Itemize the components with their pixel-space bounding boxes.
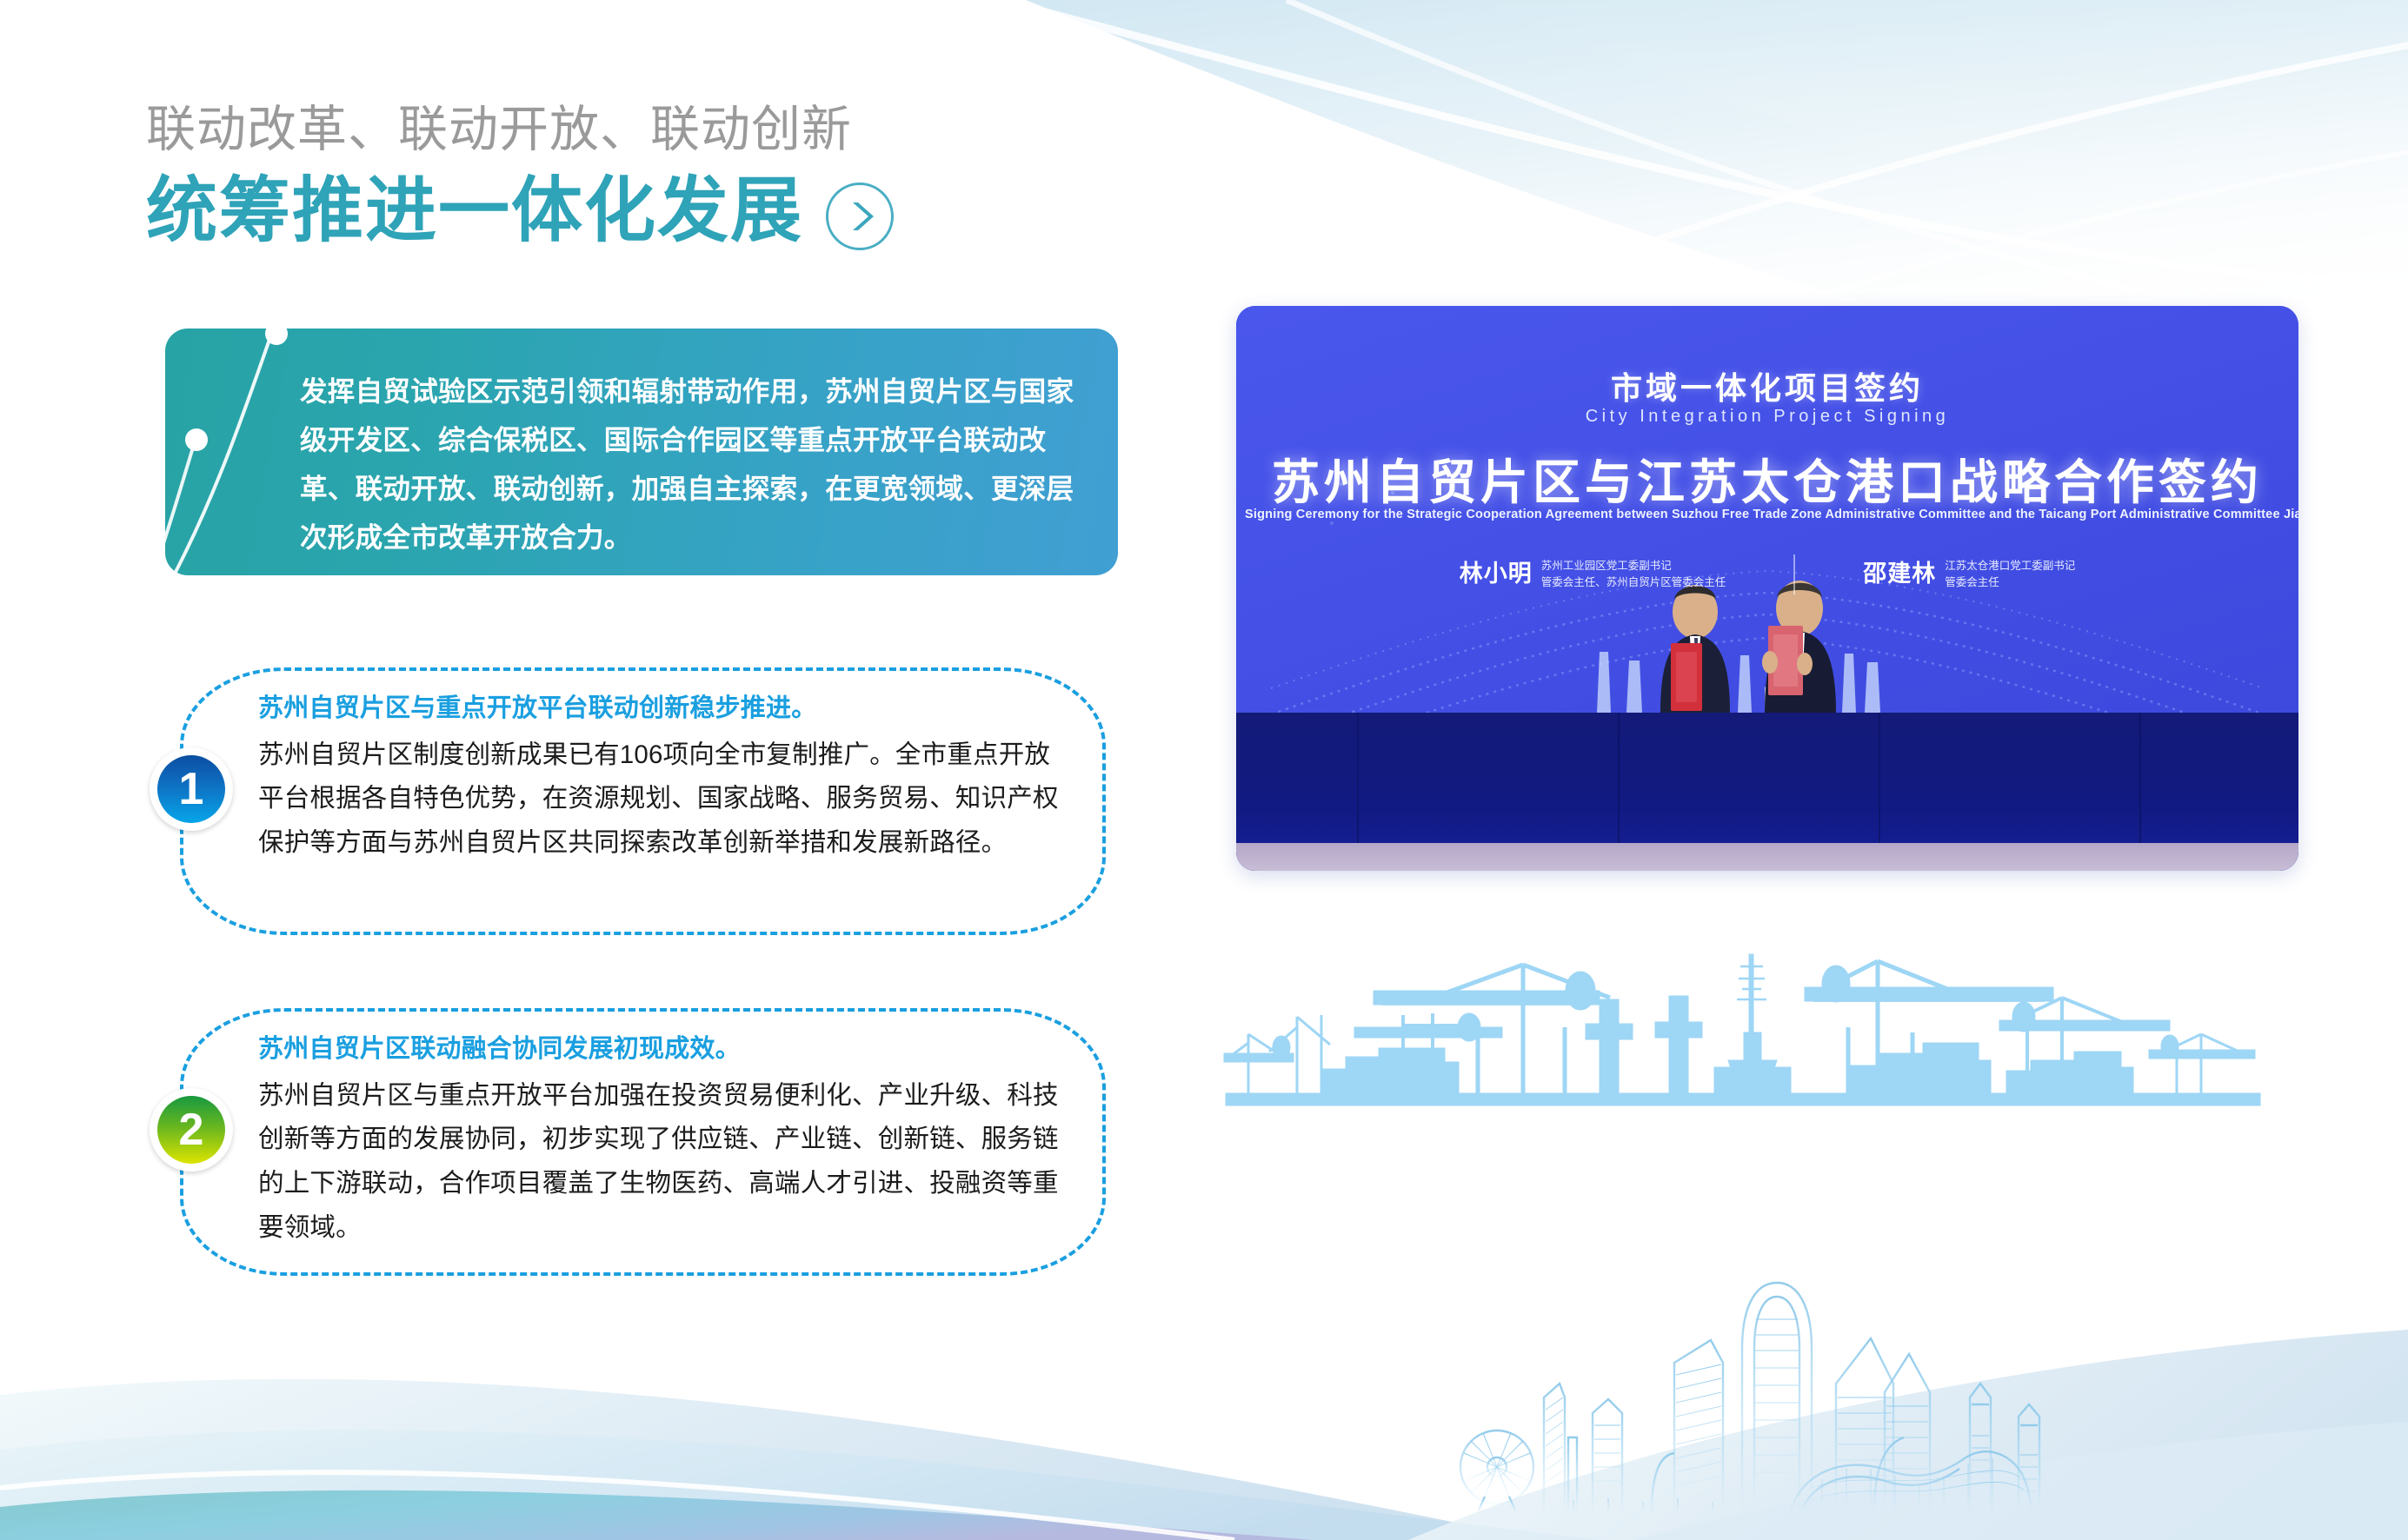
lead-callout-box: 发挥自贸试验区示范引领和辐射带动作用，苏州自贸片区与国家级开发区、综合保税区、国… (165, 329, 1118, 575)
suzhou-skyline-illustration (1391, 1251, 2408, 1540)
card-1-text: 苏州自贸片区制度创新成果已有106项向全市复制推广。全市重点开放平台根据各自特色… (258, 733, 1061, 866)
photo-banner-subtitle-en: Signing Ceremony for the Strategic Coope… (1245, 508, 2290, 521)
chevron-right-icon[interactable] (826, 183, 894, 250)
photo-person-right-role-line1: 江苏太仓港口党工委副书记 (1945, 558, 2075, 574)
page-header: 联动改革、联动开放、联动创新 统筹推进一体化发展 (146, 104, 1189, 250)
card-2-badge: 2 (150, 1088, 233, 1172)
card-2-text: 苏州自贸片区与重点开放平台加强在投资贸易便利化、产业升级、科技创新等方面的发展协… (258, 1074, 1061, 1251)
header-title-row: 统筹推进一体化发展 (146, 172, 1189, 250)
page-title: 统筹推进一体化发展 (146, 174, 803, 249)
photo-person-left-role-line2: 管委会主任、苏州自贸片区管委会主任 (1541, 574, 1726, 591)
photo-person-right-role: 江苏太仓港口党工委副书记 管委会主任 (1945, 554, 2075, 591)
card-2-number: 2 (157, 1096, 225, 1164)
photo-person-right: 邵建林 江苏太仓港口党工委副书记 管委会主任 (1863, 554, 2075, 591)
photo-person-right-role-line2: 管委会主任 (1945, 574, 2075, 591)
chevron-right-glyph (845, 199, 875, 234)
card-1-heading: 苏州自贸片区与重点开放平台联动创新稳步推进。 (258, 690, 1061, 728)
skyline-illustration-svg (1391, 1251, 2408, 1540)
card-2-heading: 苏州自贸片区联动融合协同发展初现成效。 (258, 1031, 1061, 1069)
photo-banner-title-en: City Integration Project Signing (1236, 407, 2298, 427)
photo-banner-headline: 苏州自贸片区与江苏太仓港口战略合作签约 (1236, 443, 2298, 513)
numbered-card-2: 2 苏州自贸片区联动融合协同发展初现成效。 苏州自贸片区与重点开放平台加强在投资… (180, 1008, 1106, 1276)
photo-person-left-name: 林小明 (1460, 554, 1533, 588)
page-root: 联动改革、联动开放、联动创新 统筹推进一体化发展 发挥自贸试验区示范引领和辐射带… (0, 0, 2408, 1540)
signing-ceremony-photo: 市域一体化项目签约 City Integration Project Signi… (1236, 306, 2298, 871)
photo-name-divider (1793, 554, 1795, 594)
card-1-number: 1 (157, 755, 225, 823)
photo-person-left: 林小明 苏州工业园区党工委副书记 管委会主任、苏州自贸片区管委会主任 (1460, 554, 1726, 591)
numbered-card-1: 1 苏州自贸片区与重点开放平台联动创新稳步推进。 苏州自贸片区制度创新成果已有1… (180, 667, 1106, 935)
photo-person-right-name: 邵建林 (1863, 554, 1936, 588)
photo-banner-title-cn: 市域一体化项目签约 (1236, 363, 2298, 408)
port-illustration-svg (1217, 930, 2408, 1130)
photo-person-left-role: 苏州工业园区党工委副书记 管委会主任、苏州自贸片区管委会主任 (1541, 554, 1726, 591)
card-1-body: 苏州自贸片区与重点开放平台联动创新稳步推进。 苏州自贸片区制度创新成果已有106… (258, 690, 1061, 866)
card-2-body: 苏州自贸片区联动融合协同发展初现成效。 苏州自贸片区与重点开放平台加强在投资贸易… (258, 1031, 1061, 1250)
photo-person-left-role-line1: 苏州工业园区党工委副书记 (1541, 558, 1726, 574)
port-cranes-ships-illustration (1217, 930, 2408, 1130)
header-eyebrow: 联动改革、联动开放、联动创新 (146, 104, 1189, 156)
card-1-badge: 1 (150, 747, 233, 831)
photo-name-plates: 林小明 苏州工业园区党工委副书记 管委会主任、苏州自贸片区管委会主任 邵建林 江… (1236, 554, 2298, 594)
lead-paragraph: 发挥自贸试验区示范引领和辐射带动作用，苏州自贸片区与国家级开发区、综合保税区、国… (300, 367, 1080, 561)
